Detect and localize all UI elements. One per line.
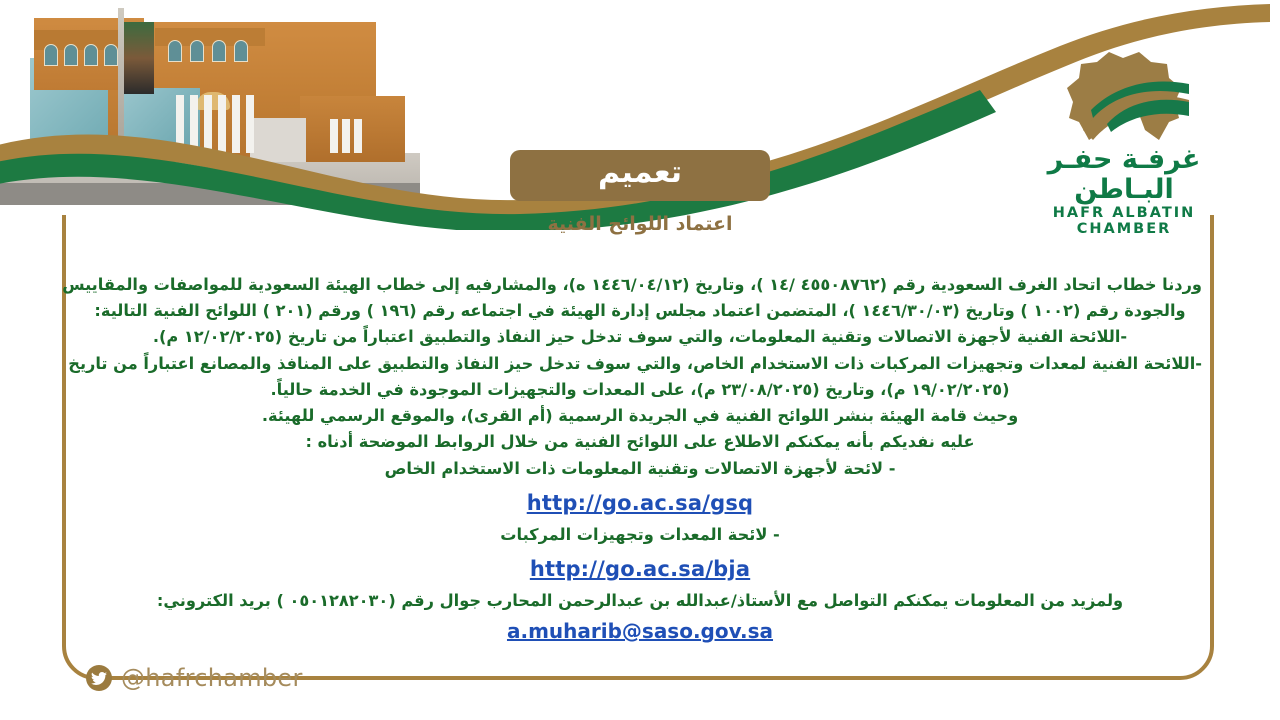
- body-line-8: - لائحة لأجهزة الاتصالات وتقنية المعلوما…: [78, 456, 1202, 482]
- chamber-gear-dunes-logo-icon: [1049, 44, 1199, 149]
- body-line-after-link-1: - لائحة المعدات وتجهيزات المركبات: [78, 522, 1202, 548]
- technical-regulation-link-2[interactable]: http://go.ac.sa/bja: [78, 552, 1202, 586]
- circular-poster: غرفـة حفـر البـاطن HAFR ALBATIN CHAMBER …: [0, 0, 1280, 720]
- twitter-bird-icon[interactable]: [86, 665, 112, 691]
- body-line-2: والجودة رقم (١٠٠٢ ) وتاريخ (١٤٤٦/٣٠/٠٣ )…: [78, 298, 1202, 324]
- contact-email-link[interactable]: a.muharib@saso.gov.sa: [507, 615, 773, 647]
- technical-regulation-link-1[interactable]: http://go.ac.sa/gsq: [78, 486, 1202, 520]
- body-line-4: -اللائحة الفنية لمعدات وتجهيزات المركبات…: [78, 351, 1202, 377]
- title-block: تعميم اعتماد اللوائح الفنية: [0, 150, 1280, 235]
- body-line-7: عليه نفديكم بأنه يمكنكم الاطلاع على اللو…: [78, 429, 1202, 455]
- contact-line: ولمزيد من المعلومات يمكنكم التواصل مع ال…: [78, 588, 1202, 614]
- body-line-5: (١٩/٠٢/٢٠٢٥ م)، وتاريخ (٢٣/٠٨/٢٠٢٥ م)، ع…: [78, 377, 1202, 403]
- body-line-3: -اللائحة الفنية لأجهزة الاتصالات وتقنية …: [78, 324, 1202, 350]
- circular-subtitle: اعتماد اللوائح الفنية: [0, 213, 1280, 235]
- twitter-handle-text[interactable]: @hafrchamber: [121, 664, 303, 692]
- body-line-6: وحيث قامة الهيئة بنشر اللوائح الفنية في …: [78, 403, 1202, 429]
- circular-body: وردنا خطاب اتحاد الغرف السعودية رقم (٤٥٥…: [78, 272, 1202, 648]
- body-line-1: وردنا خطاب اتحاد الغرف السعودية رقم (٤٥٥…: [78, 272, 1202, 298]
- twitter-handle-block[interactable]: @hafrchamber: [86, 664, 303, 692]
- circular-title-badge: تعميم: [510, 150, 770, 201]
